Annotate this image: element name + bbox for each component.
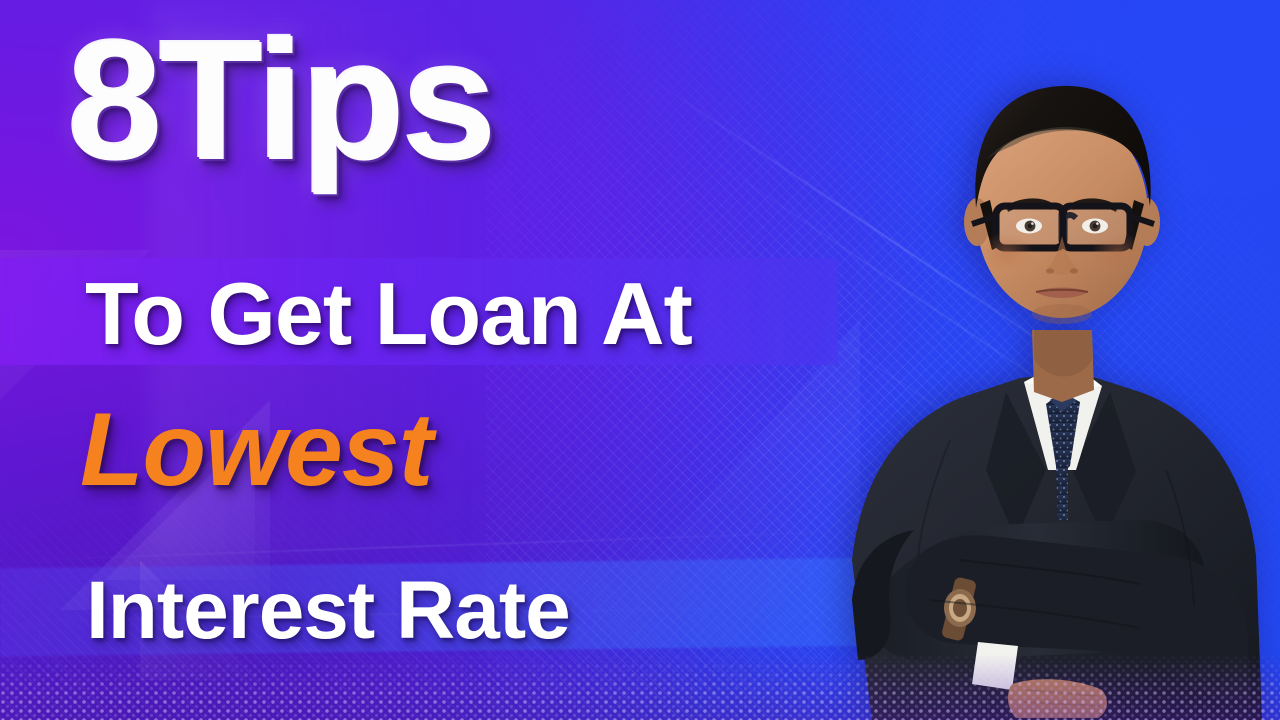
headline-line-1: 8Tips [68,16,494,186]
headline-line-4: Interest Rate [86,570,570,652]
headline-block: 8Tips To Get Loan At Lowest Interest Rat… [0,0,900,720]
headline-line-2: To Get Loan At [85,270,692,358]
headline-line-3-accent: Lowest [80,398,432,502]
youtube-thumbnail: 8Tips To Get Loan At Lowest Interest Rat… [0,0,1280,720]
